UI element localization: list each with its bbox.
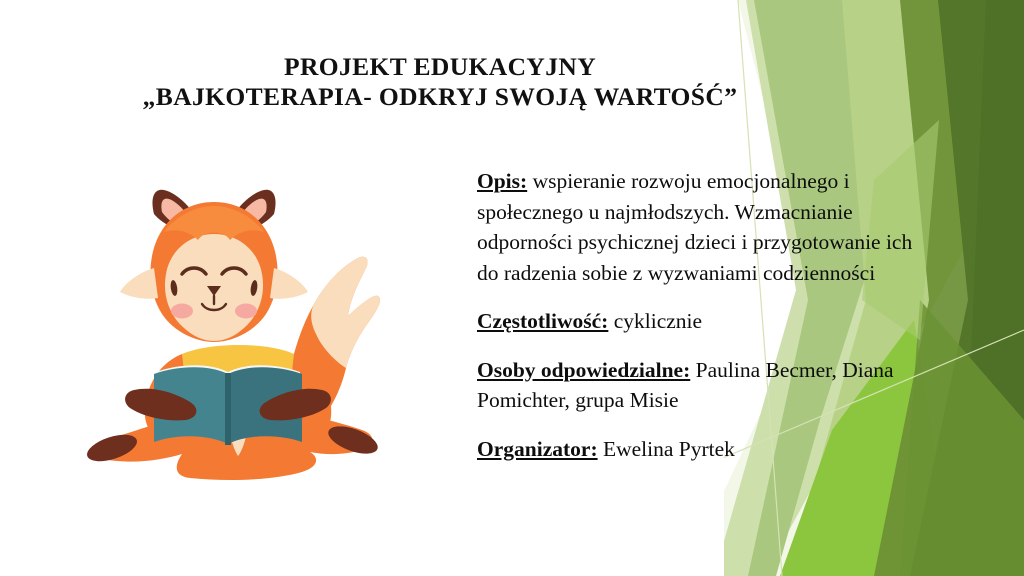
title-line-2: „BAJKOTERAPIA- ODKRYJ SWOJĄ WARTOŚĆ” [0,82,880,112]
book-spine [225,373,231,445]
body-value-opis: wspieranie rozwoju emocjonalnego i społe… [477,169,912,285]
fox-reading-book-illustration [78,176,383,486]
fox-cheek-tuft-left [120,268,158,299]
presentation-slide: PROJEKT EDUKACYJNY „BAJKOTERAPIA- ODKRYJ… [0,0,1024,576]
body-value-czestotliwosc: cyklicznie [608,309,702,333]
body-paragraph-opis: Opis: wspieranie rozwoju emocjonalnego i… [477,166,917,288]
body-label-osoby-odpowiedzialne: Osoby odpowiedzialne: [477,358,690,382]
body-paragraph-czestotliwosc: Częstotliwość: cyklicznie [477,306,917,337]
decor-shape-olive-darkest [962,0,1024,576]
fox-cheek-tuft-right [270,268,308,299]
body-paragraph-osoby-odpowiedzialne: Osoby odpowiedzialne: Paulina Becmer, Di… [477,355,917,416]
fox-cheek-right [235,304,257,319]
body-value-organizator: Ewelina Pyrtek [598,437,735,461]
page-title: PROJEKT EDUKACYJNY „BAJKOTERAPIA- ODKRYJ… [0,52,880,112]
decor-shape-green-overlay-lower [900,300,1024,576]
body-label-organizator: Organizator: [477,437,598,461]
body-label-opis: Opis: [477,169,527,193]
body-label-czestotliwosc: Częstotliwość: [477,309,608,333]
decor-shape-olive-dark [910,0,1024,576]
body-text-column: Opis: wspieranie rozwoju emocjonalnego i… [477,166,917,464]
body-paragraph-organizator: Organizator: Ewelina Pyrtek [477,434,917,465]
fox-cheek-left [171,304,193,319]
title-line-1: PROJEKT EDUKACYJNY [0,52,880,82]
